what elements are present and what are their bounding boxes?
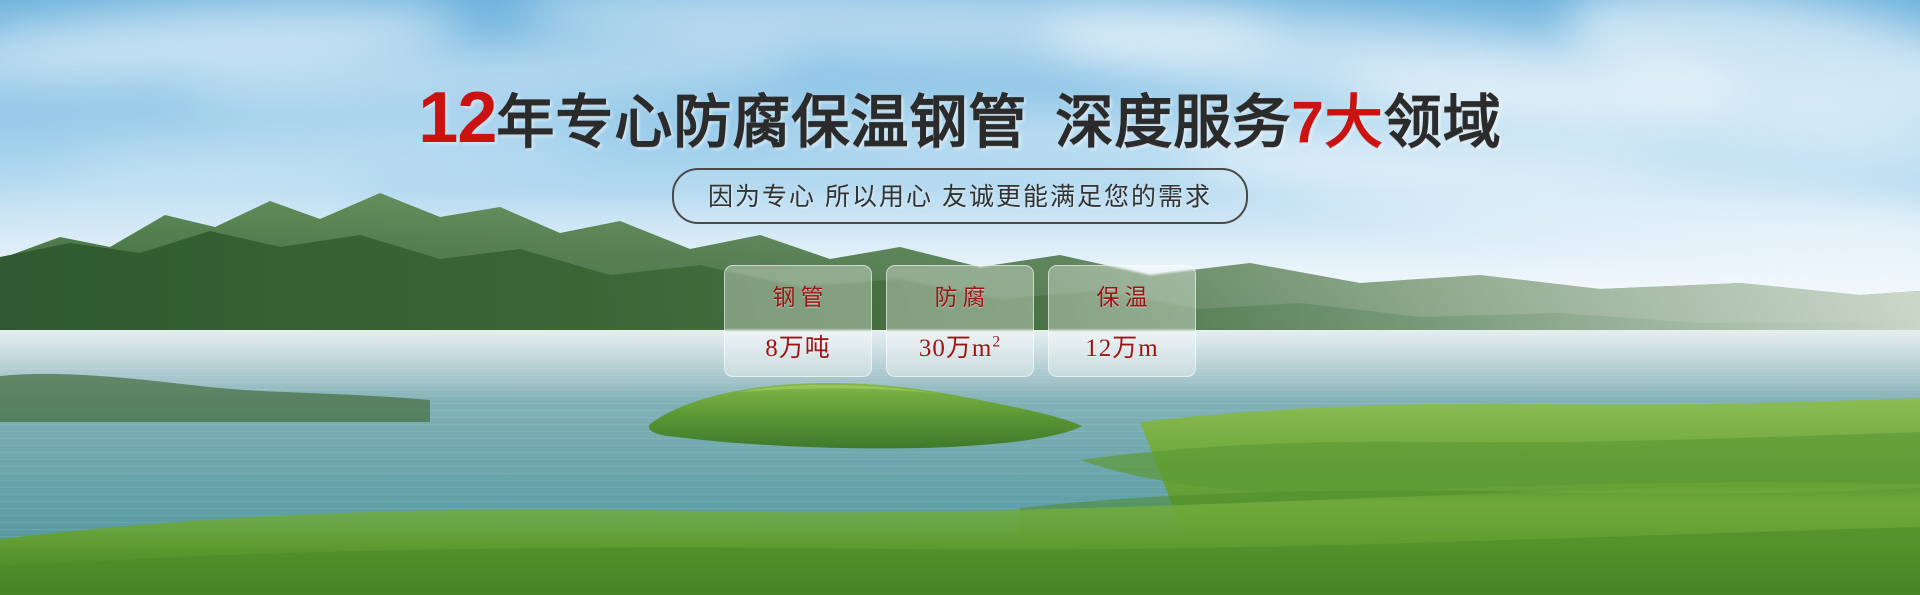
banner-content: 12年专心防腐保温钢管深度服务7大领域 因为专心 所以用心 友诚更能满足您的需求… (0, 0, 1920, 595)
stat-card-label: 钢管 (768, 278, 829, 312)
stat-card[interactable]: 防腐 30万m2 (886, 265, 1034, 377)
stat-card-value-text: 8万吨 (765, 335, 831, 362)
stat-card-value-text: 12万m (1085, 335, 1158, 362)
stat-card-value-superscript: 2 (992, 334, 1001, 351)
subtitle-container: 因为专心 所以用心 友诚更能满足您的需求 (0, 168, 1920, 224)
headline-part-three: 领域 (1384, 90, 1502, 155)
stat-card-label: 防腐 (930, 278, 991, 312)
page-title: 12年专心防腐保温钢管深度服务7大领域 (0, 82, 1920, 154)
headline-part-one: 年专心防腐保温钢管 (496, 90, 1027, 155)
stat-card[interactable]: 保温 12万m (1048, 265, 1196, 377)
headline-accent-fields: 7大 (1291, 90, 1383, 155)
stat-card[interactable]: 钢管 8万吨 (724, 265, 872, 377)
stat-cards: 钢管 8万吨 防腐 30万m2 保温 12万m (0, 265, 1920, 377)
stat-card-value: 8万吨 (765, 328, 831, 364)
stat-card-label: 保温 (1092, 278, 1153, 312)
promo-banner: 12年专心防腐保温钢管深度服务7大领域 因为专心 所以用心 友诚更能满足您的需求… (0, 0, 1920, 595)
stat-card-value: 12万m (1085, 328, 1158, 364)
stat-card-value-text: 30万m (919, 335, 992, 362)
stat-card-value: 30万m2 (919, 328, 1001, 364)
subtitle-pill: 因为专心 所以用心 友诚更能满足您的需求 (672, 168, 1248, 224)
headline-part-two: 深度服务 (1055, 90, 1291, 155)
headline-number-years: 12 (418, 78, 496, 158)
